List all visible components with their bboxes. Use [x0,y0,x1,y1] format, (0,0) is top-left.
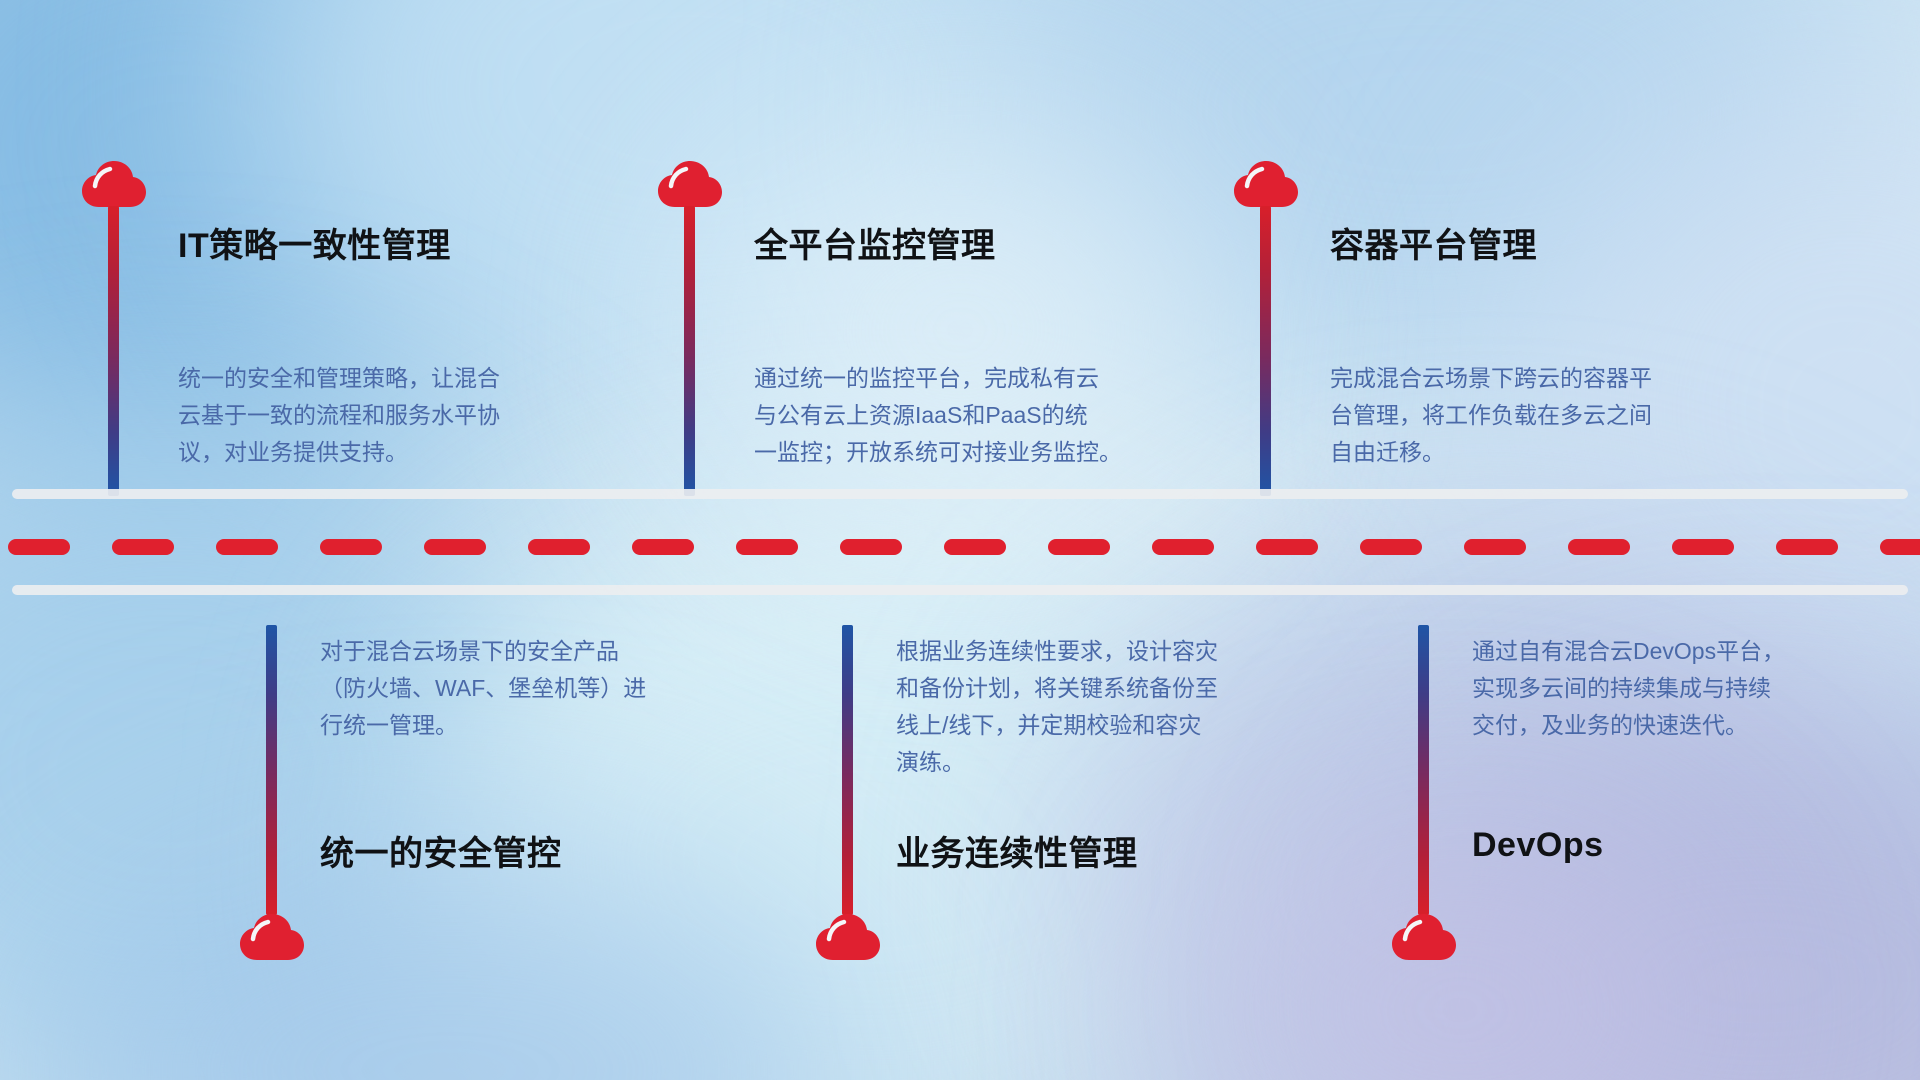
stem-line [108,206,119,496]
divider-line-bottom [12,585,1908,595]
body-devops: 通过自有混合云DevOps平台， 实现多云间的持续集成与持续 交付，及业务的快速… [1472,633,1902,744]
dashed-divider [0,539,1920,555]
heading-devops: DevOps [1472,826,1604,865]
body-full-platform-monitoring: 通过统一的监控平台，完成私有云 与公有云上资源IaaS和PaaS的统 一监控；开… [754,360,1184,471]
dash-segment [1152,539,1214,555]
dash-segment [840,539,902,555]
stem-line [684,206,695,496]
dash-segment [424,539,486,555]
dash-segment [736,539,798,555]
dash-segment [1256,539,1318,555]
dash-segment [1568,539,1630,555]
cloud-icon [1391,913,1457,963]
heading-unified-security: 统一的安全管控 [320,826,562,875]
cloud-icon [1233,160,1299,210]
dash-segment [1672,539,1734,555]
heading-container-platform: 容器平台管理 [1330,218,1537,267]
dash-segment [1464,539,1526,555]
cloud-icon [239,913,305,963]
dash-segment [112,539,174,555]
heading-business-continuity: 业务连续性管理 [896,826,1138,875]
infographic-canvas: IT策略一致性管理 统一的安全和管理策略，让混合 云基于一致的流程和服务水平协 … [0,0,1920,1080]
dash-segment [632,539,694,555]
divider-line-top [12,489,1908,499]
dash-segment [320,539,382,555]
heading-full-platform-monitoring: 全平台监控管理 [754,218,996,267]
dash-segment [1776,539,1838,555]
stem-line [842,625,853,915]
cloud-icon [815,913,881,963]
dash-segment [1880,539,1920,555]
stem-line [266,625,277,915]
dash-segment [1048,539,1110,555]
stem-line [1418,625,1429,915]
dash-segment [528,539,590,555]
body-it-policy-consistency: 统一的安全和管理策略，让混合 云基于一致的流程和服务水平协 议，对业务提供支持。 [178,360,608,471]
dash-segment [1360,539,1422,555]
dash-segment [8,539,70,555]
cloud-icon [81,160,147,210]
stem-line [1260,206,1271,496]
dash-segment [944,539,1006,555]
body-business-continuity: 根据业务连续性要求，设计容灾 和备份计划，将关键系统备份至 线上/线下，并定期校… [896,633,1326,781]
dash-segment [216,539,278,555]
heading-it-policy-consistency: IT策略一致性管理 [178,218,451,267]
body-container-platform: 完成混合云场景下跨云的容器平 台管理，将工作负载在多云之间 自由迁移。 [1330,360,1760,471]
cloud-icon [657,160,723,210]
body-unified-security: 对于混合云场景下的安全产品 （防火墙、WAF、堡垒机等）进 行统一管理。 [320,633,750,744]
